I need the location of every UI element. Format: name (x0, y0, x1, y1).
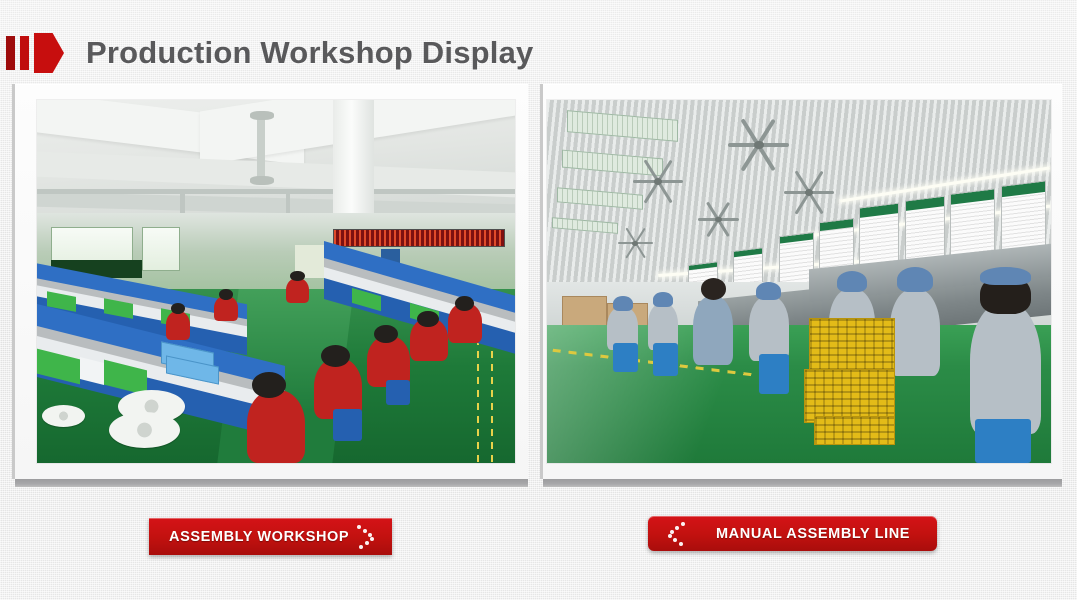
ceiling-pipe (37, 189, 515, 194)
worker-head (252, 372, 285, 397)
worker-cap (756, 282, 781, 300)
worker-head (219, 289, 233, 300)
worker (166, 311, 190, 340)
assembly-line-scene (547, 100, 1051, 463)
fan-hub (754, 141, 764, 149)
fan-hub (632, 241, 638, 246)
fan-hub (715, 217, 721, 223)
stool (975, 419, 1030, 463)
worker-cap (980, 267, 1030, 285)
logo-bar-1 (6, 36, 15, 70)
stool (759, 354, 789, 394)
manual-assembly-line-button-label: MANUAL ASSEMBLY LINE (716, 526, 910, 542)
stool (653, 343, 678, 376)
worker (214, 296, 238, 321)
worker (890, 289, 940, 376)
worker-head (701, 278, 726, 300)
photo-assembly-workshop[interactable] (37, 100, 515, 463)
ceiling-lamp (250, 111, 274, 120)
stool (386, 380, 410, 405)
manual-assembly-line-button[interactable]: MANUAL ASSEMBLY LINE (648, 516, 937, 551)
led-scrolling-display (333, 229, 505, 247)
ceiling-fan (784, 180, 834, 205)
worker-supervisor (693, 296, 733, 365)
ceiling-fan (728, 129, 788, 162)
worker-cap (613, 296, 633, 311)
worker (286, 278, 310, 303)
worker-cap (837, 271, 867, 293)
ceiling-fan (698, 209, 738, 231)
worker-head (374, 325, 398, 343)
worker (247, 390, 304, 463)
logo-bar-2 (20, 36, 29, 70)
worker-head (455, 296, 474, 311)
red-arrow-bars-logo-icon (4, 30, 64, 76)
floor-marking (477, 325, 479, 463)
photo-frame-shadow (15, 479, 528, 487)
worker-head (417, 311, 439, 327)
wall-window (142, 227, 180, 271)
assembly-workshop-button[interactable]: ASSEMBLY WORKSHOP (149, 518, 392, 555)
worker-head (290, 271, 304, 282)
fan-hub (805, 189, 813, 196)
stool (613, 343, 638, 372)
photo-manual-assembly-line[interactable] (547, 100, 1051, 463)
fan-hub (654, 178, 662, 185)
worker-cap (653, 292, 673, 307)
assembly-workshop-button-label: ASSEMBLY WORKSHOP (169, 529, 349, 545)
page-title: Production Workshop Display (86, 35, 533, 71)
dotted-chevron-right-icon (356, 524, 378, 550)
yellow-crate (814, 416, 895, 445)
yellow-crate (809, 318, 895, 376)
stool (333, 409, 362, 442)
photo-panel-assembly-workshop (12, 84, 528, 479)
photo-panel-manual-assembly-line (540, 84, 1062, 479)
worker-head (321, 345, 350, 367)
worker-cap (897, 267, 932, 292)
workshop-scene (37, 100, 515, 463)
ceiling-hanger (257, 115, 265, 180)
dotted-chevron-left-icon (664, 521, 686, 547)
ceiling-fan (618, 234, 653, 252)
cardboard-box (562, 296, 607, 329)
page-header: Production Workshop Display (0, 22, 1077, 84)
worker-foreground (970, 303, 1041, 434)
photo-frame-shadow (543, 479, 1062, 487)
ceiling-fan (633, 169, 683, 194)
worker (749, 296, 789, 361)
ceiling-lamp (250, 176, 274, 185)
logo-arrow (34, 33, 64, 73)
component-reel (42, 405, 85, 427)
